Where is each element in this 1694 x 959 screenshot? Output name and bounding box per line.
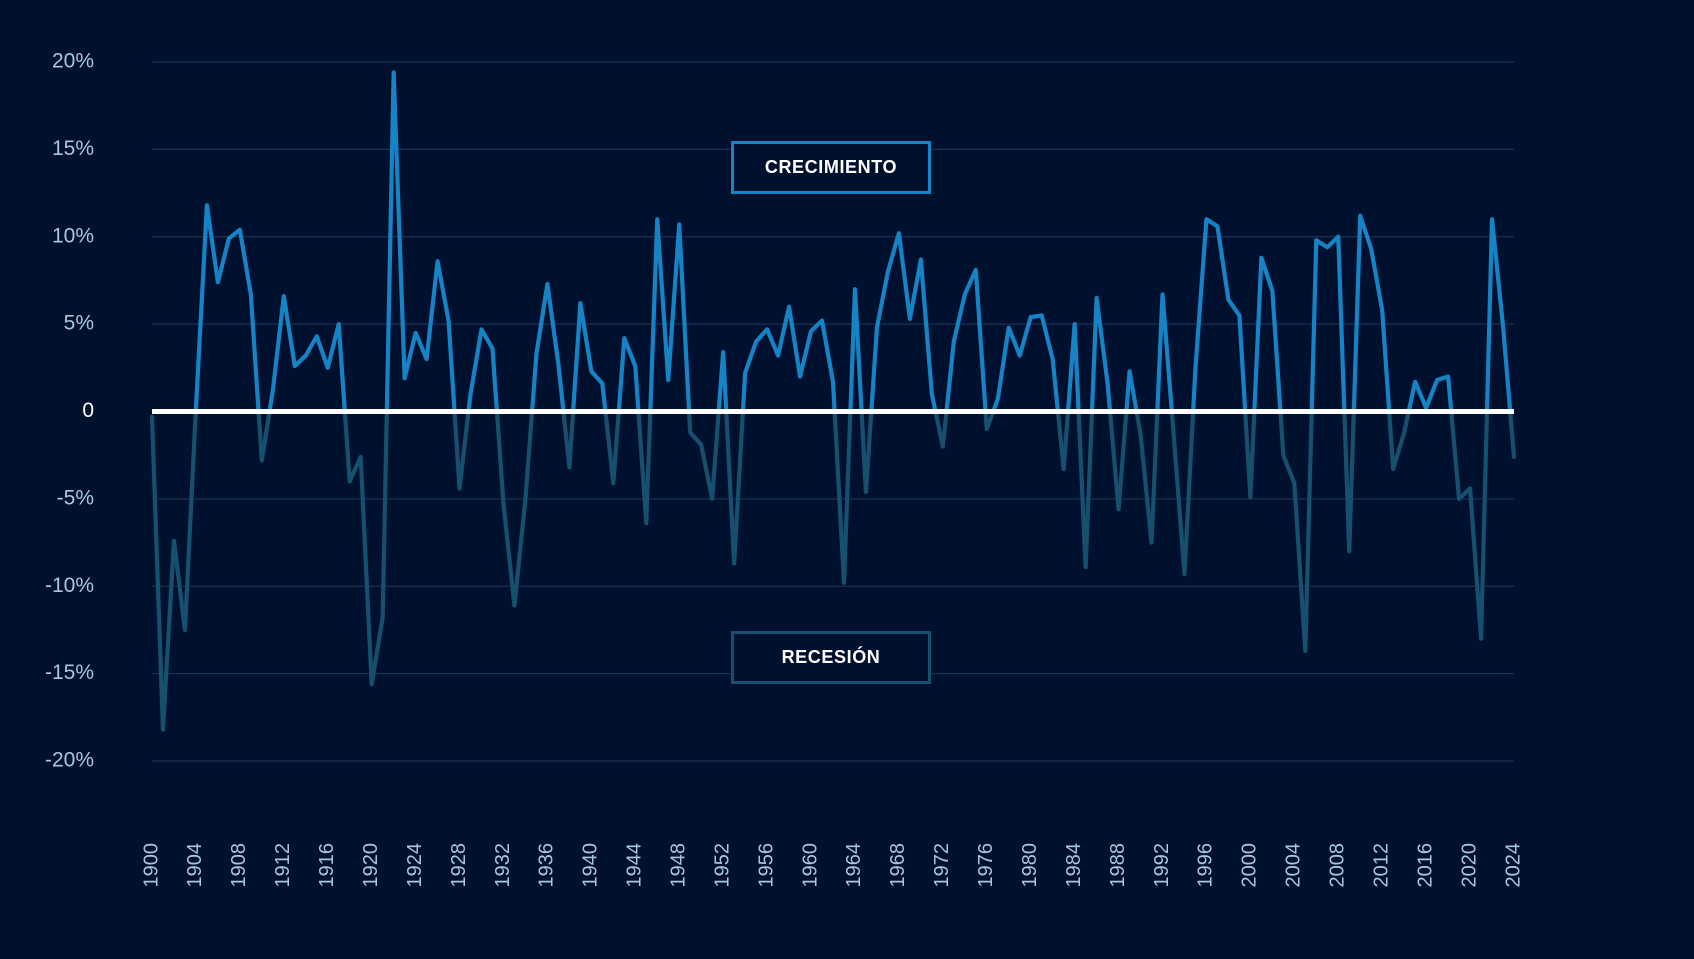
series-segment-growth: [871, 233, 935, 411]
series-segment-growth: [993, 315, 1058, 411]
series-segment-growth: [1126, 371, 1136, 411]
y-axis-tick-label: -20%: [45, 749, 94, 772]
x-axis-tick-label: 1916: [316, 843, 338, 888]
series-segment-recession: [1280, 412, 1311, 651]
y-axis-tick-label: -5%: [57, 486, 94, 509]
series-segment-growth: [719, 352, 727, 411]
series-segment-recession: [1058, 412, 1068, 470]
x-axis-tick-label: 2020: [1458, 843, 1480, 888]
series-segment-recession: [605, 412, 618, 484]
x-axis-tick-label: 1912: [272, 843, 294, 888]
x-axis-tick-label: 1932: [492, 843, 514, 888]
series-segment-growth: [650, 219, 689, 411]
x-axis-tick-label: 1936: [536, 843, 558, 888]
annotation-crecimiento: CRECIMIENTO: [731, 141, 931, 194]
x-axis-tick-label: 1996: [1195, 843, 1217, 888]
x-axis-tick-label: 1976: [975, 843, 997, 888]
series-segment-recession: [345, 412, 387, 685]
x-axis-tick-label: 1924: [404, 843, 426, 888]
series-segment-recession: [1510, 412, 1514, 457]
x-axis-tick-label: 2012: [1370, 843, 1392, 888]
x-axis-tick-label: 1968: [887, 843, 909, 888]
series-segment-recession: [259, 412, 270, 461]
y-axis-tick-label: 10%: [52, 224, 94, 247]
series-segment-growth: [469, 329, 497, 411]
series-segment-growth: [1409, 377, 1452, 412]
x-axis-tick-label: 1904: [184, 843, 206, 888]
series-segment-recession: [1079, 412, 1092, 568]
x-axis-tick-label: 1960: [799, 843, 821, 888]
x-axis-tick-label: 2008: [1327, 843, 1349, 888]
x-axis-tick-label: 1900: [140, 843, 162, 888]
series-segment-growth: [532, 284, 563, 412]
series-segment-growth: [1254, 258, 1280, 412]
y-axis-tick-label: -15%: [45, 661, 94, 684]
series-segment-recession: [152, 412, 196, 730]
x-axis-tick-label: 1948: [668, 843, 690, 888]
x-axis-tick-label: 1980: [1019, 843, 1041, 888]
series-segment-growth: [850, 289, 861, 411]
x-axis-tick-label: 1984: [1063, 843, 1085, 888]
series-segment-recession: [1137, 412, 1158, 543]
x-axis-tick-label: 1964: [843, 843, 865, 888]
x-axis-tick-label: 2004: [1283, 843, 1305, 888]
series-segment-recession: [1389, 412, 1409, 470]
x-axis-tick-label: 1928: [448, 843, 470, 888]
series-segment-recession: [563, 412, 573, 468]
series-segment-growth: [743, 307, 835, 412]
series-segment-growth: [1092, 298, 1110, 412]
series-segment-recession: [1451, 412, 1487, 639]
series-segment-growth: [1068, 324, 1079, 411]
y-axis-tick-label: 5%: [64, 312, 94, 335]
x-axis-tick-label: 1940: [580, 843, 602, 888]
series-segment-recession: [726, 412, 743, 564]
series-segment-recession: [936, 412, 947, 447]
series-segment-recession: [689, 412, 719, 499]
y-axis-tick-label: 20%: [52, 50, 94, 73]
series-segment-recession: [1110, 412, 1126, 510]
x-axis-tick-label: 1920: [360, 843, 382, 888]
annotation-recesion: RECESIÓN: [731, 631, 931, 684]
series-segment-growth: [619, 338, 639, 411]
x-axis-tick-label: 1972: [931, 843, 953, 888]
series-segment-recession: [1172, 412, 1193, 575]
series-segment-growth: [270, 296, 345, 411]
series-segment-growth: [947, 270, 986, 412]
x-axis-tick-label: 1992: [1151, 843, 1173, 888]
y-axis-tick-label: 0: [82, 399, 94, 422]
series-segment-recession: [497, 412, 532, 606]
x-axis-tick-label: 1956: [755, 843, 777, 888]
series-segment-growth: [1487, 219, 1510, 411]
x-axis-tick-label: 2016: [1414, 843, 1436, 888]
annotation-crecimiento-label: CRECIMIENTO: [765, 157, 897, 178]
x-axis-tick-label: 2000: [1239, 843, 1261, 888]
y-axis-tick-label: 15%: [52, 137, 94, 160]
x-axis-tick-label: 1944: [624, 843, 646, 888]
series-segment-recession: [1344, 412, 1353, 552]
series-segment-recession: [1245, 412, 1254, 498]
series-segment-recession: [835, 412, 851, 583]
series-segment-growth: [387, 72, 455, 411]
series-segment-growth: [1157, 294, 1172, 411]
series-segment-growth: [1354, 216, 1389, 412]
series-segment-growth: [573, 303, 605, 411]
series-segment-recession: [638, 412, 650, 524]
x-axis-tick-label: 2024: [1502, 843, 1524, 888]
series-segment-recession: [455, 412, 469, 489]
x-axis-tick-label: 1952: [711, 843, 733, 888]
x-axis-tick-labels: 1900190419081912191619201924192819321936…: [140, 843, 1524, 888]
x-axis-tick-label: 1988: [1107, 843, 1129, 888]
series-segment-recession: [986, 412, 994, 429]
annotation-recesion-label: RECESIÓN: [782, 647, 881, 668]
y-axis-tick-labels: 20%15%10%5%0-5%-10%-15%-20%: [45, 50, 94, 772]
chart-container: 20%15%10%5%0-5%-10%-15%-20% 190019041908…: [0, 0, 1694, 959]
series-segment-recession: [862, 412, 872, 492]
x-axis-tick-label: 1908: [228, 843, 250, 888]
y-axis-tick-label: -10%: [45, 574, 94, 597]
series-segment-growth: [1193, 219, 1245, 411]
